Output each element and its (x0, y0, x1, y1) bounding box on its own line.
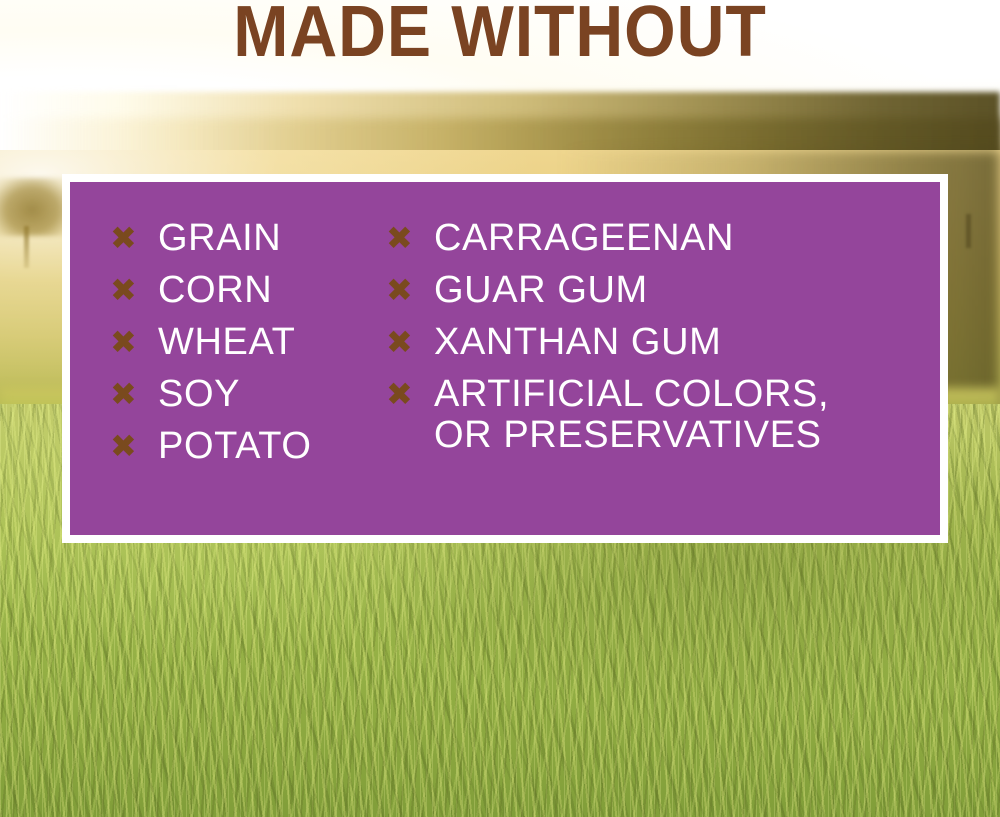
list-item: ✖ SOY (110, 374, 386, 415)
list-item: ✖ XANTHAN GUM (386, 322, 930, 363)
list-item-label: ARTIFICIAL COLORS, OR PRESERVATIVES (434, 374, 829, 456)
list-item: ✖ GUAR GUM (386, 270, 930, 311)
list-item: ✖ POTATO (110, 426, 386, 467)
right-column: ✖ CARRAGEENAN ✖ GUAR GUM ✖ XANTHAN GUM ✖… (386, 218, 930, 467)
list-item-label: WHEAT (158, 322, 295, 363)
exclusion-list: ✖ GRAIN ✖ CORN ✖ WHEAT ✖ SOY ✖ POTATO (110, 218, 930, 478)
x-mark-icon: ✖ (386, 322, 416, 362)
list-item-label: GRAIN (158, 218, 281, 259)
x-mark-icon: ✖ (110, 218, 140, 258)
x-mark-icon: ✖ (110, 270, 140, 310)
x-mark-icon: ✖ (110, 426, 140, 466)
list-item-label: SOY (158, 374, 240, 415)
page-title: MADE WITHOUT (40, 0, 960, 68)
list-item-label: CARRAGEENAN (434, 218, 734, 259)
list-item: ✖ GRAIN (110, 218, 386, 259)
x-mark-icon: ✖ (386, 270, 416, 310)
x-mark-icon: ✖ (110, 322, 140, 362)
list-item: ✖ CORN (110, 270, 386, 311)
list-item-label: GUAR GUM (434, 270, 648, 311)
list-item: ✖ ARTIFICIAL COLORS, OR PRESERVATIVES (386, 374, 930, 456)
fence-post (966, 214, 971, 248)
list-item-label: XANTHAN GUM (434, 322, 721, 363)
tree-trunk (24, 226, 29, 268)
list-item: ✖ CARRAGEENAN (386, 218, 930, 259)
list-item-label: POTATO (158, 426, 312, 467)
panel-inner: ✖ GRAIN ✖ CORN ✖ WHEAT ✖ SOY ✖ POTATO (70, 182, 940, 535)
x-mark-icon: ✖ (110, 374, 140, 414)
left-column: ✖ GRAIN ✖ CORN ✖ WHEAT ✖ SOY ✖ POTATO (110, 218, 386, 478)
x-mark-icon: ✖ (386, 374, 416, 414)
list-item-label: CORN (158, 270, 272, 311)
x-mark-icon: ✖ (386, 218, 416, 258)
tree-canopy (0, 178, 70, 236)
made-without-panel: ✖ GRAIN ✖ CORN ✖ WHEAT ✖ SOY ✖ POTATO (62, 174, 948, 543)
list-item: ✖ WHEAT (110, 322, 386, 363)
